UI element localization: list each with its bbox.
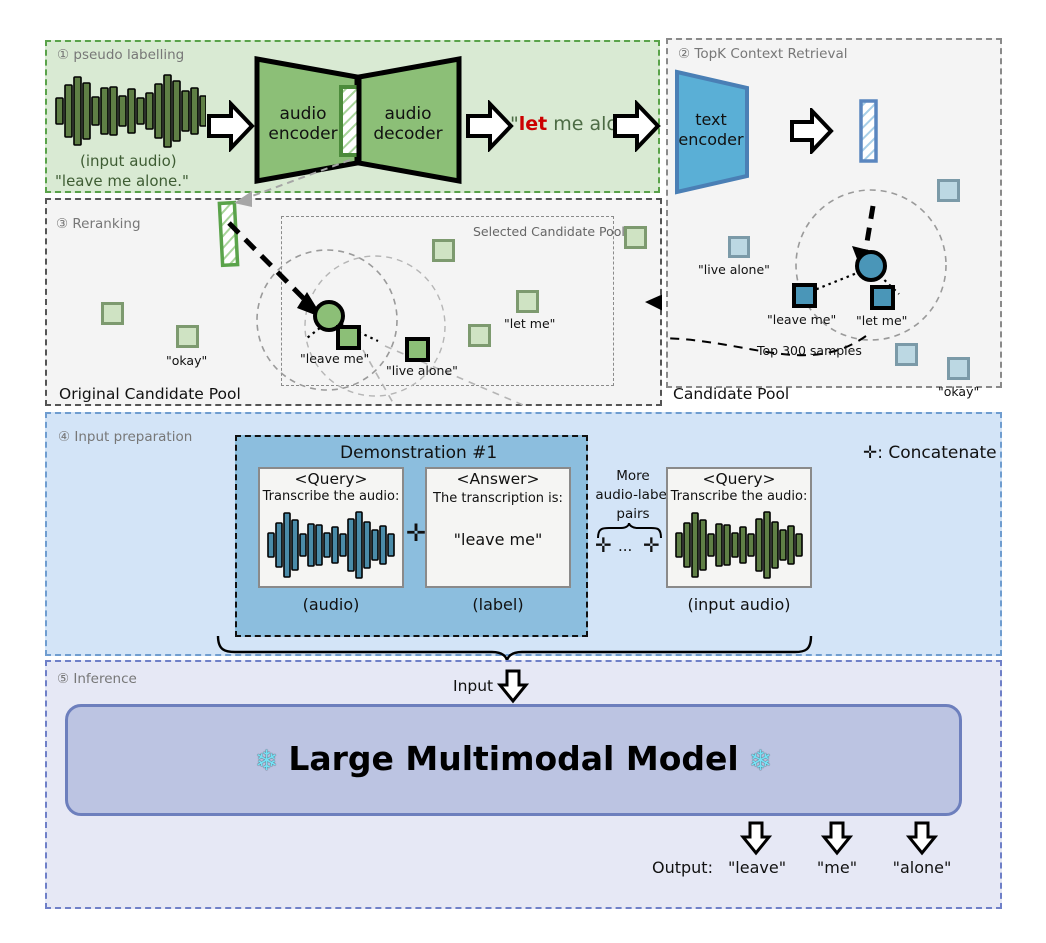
concat-plus-icon-2: ✛ bbox=[595, 533, 612, 557]
square-glyph bbox=[336, 325, 361, 350]
rerank-square-extra-3 bbox=[468, 324, 491, 347]
input-arrow-label: Input bbox=[453, 677, 493, 695]
candidate-label-leave-me: "leave me" bbox=[767, 312, 836, 327]
square-glyph bbox=[792, 283, 817, 308]
figure-canvas: ① pseudo labelling (input audio) "leave … bbox=[0, 0, 1046, 943]
rerank-square-let-me bbox=[516, 290, 539, 313]
demo-answer-value: "leave me" bbox=[425, 530, 571, 549]
candidate-square-okay bbox=[947, 357, 970, 380]
concat-plus-icon-1: ✛ bbox=[406, 519, 426, 547]
output-token-3: "alone" bbox=[884, 858, 960, 877]
output-token-2: "me" bbox=[805, 858, 869, 877]
demo-answer-instruction: The transcription is: bbox=[425, 491, 571, 506]
rerank-label-let-me: "let me" bbox=[504, 316, 555, 331]
candidate-square-extra-2 bbox=[895, 343, 918, 366]
candidate-square-extra-1 bbox=[937, 179, 960, 202]
right-arrow-icon-3 bbox=[613, 100, 661, 152]
demo-label-caption: (label) bbox=[425, 595, 571, 614]
model-name: Large Multimodal Model bbox=[278, 739, 748, 778]
square-glyph bbox=[101, 302, 124, 325]
demonstration-title: Demonstration #1 bbox=[340, 443, 497, 463]
test-query-instruction: Transcribe the audio: bbox=[666, 489, 812, 504]
down-arrow-icon-input bbox=[497, 668, 529, 704]
concat-plus-icon-3: ✛ bbox=[643, 533, 660, 557]
rerank-label-okay: "okay" bbox=[166, 353, 207, 368]
rerank-square-okay bbox=[176, 325, 199, 348]
down-arrow-icon-out-3 bbox=[906, 820, 938, 856]
section-5-label: ⑤ Inference bbox=[57, 671, 137, 687]
input-audio-transcript: "leave me alone." bbox=[55, 172, 189, 190]
rerank-label-leave-me: "leave me" bbox=[300, 351, 369, 366]
prediction-highlight: let bbox=[519, 113, 547, 135]
candidate-square-live-alone bbox=[728, 236, 750, 258]
more-pairs-line-1: More bbox=[588, 468, 678, 484]
candidate-square-leave-me bbox=[792, 283, 817, 308]
rerank-square-leave-me bbox=[336, 325, 361, 350]
candidate-label-okay: "okay" bbox=[938, 384, 979, 399]
candidate-label-let-me: "let me" bbox=[856, 313, 907, 328]
test-query-waveform bbox=[674, 509, 804, 581]
square-glyph bbox=[624, 226, 647, 249]
square-glyph bbox=[947, 357, 970, 380]
reranking-embedding-space bbox=[45, 198, 662, 406]
rerank-square-live-alone bbox=[405, 337, 430, 362]
section-1-label: ① pseudo labelling bbox=[57, 47, 184, 63]
snowflake-icon-left: ❄ bbox=[255, 744, 278, 777]
audio-decoder-label-1: audio bbox=[358, 104, 458, 124]
down-arrow-icon-out-2 bbox=[821, 820, 853, 856]
topk-embedding-space bbox=[666, 38, 1002, 388]
rerank-square-extra-1 bbox=[101, 302, 124, 325]
demo-query-waveform bbox=[266, 509, 396, 581]
square-glyph bbox=[870, 285, 895, 310]
rerank-label-live-alone: "live alone" bbox=[386, 363, 458, 378]
test-audio-caption: (input audio) bbox=[666, 595, 812, 614]
snowflake-icon-right: ❄ bbox=[749, 744, 772, 777]
square-glyph bbox=[516, 290, 539, 313]
input-audio-waveform bbox=[54, 72, 206, 150]
candidate-label-live-alone: "live alone" bbox=[698, 262, 770, 277]
output-label: Output: bbox=[652, 858, 713, 877]
demo-answer-tag: <Answer> bbox=[425, 470, 571, 488]
quote-open: " bbox=[510, 113, 519, 135]
section-4-label: ④ Input preparation bbox=[58, 429, 192, 445]
square-glyph bbox=[728, 236, 750, 258]
concatenate-plus-icon: ✛ bbox=[863, 443, 877, 463]
input-audio-caption: (input audio) bbox=[80, 152, 177, 170]
down-arrow-icon-out-1 bbox=[740, 820, 772, 856]
square-glyph bbox=[468, 324, 491, 347]
demo-query-tag: <Query> bbox=[258, 470, 404, 488]
model-title-row: ❄Large Multimodal Model❄ bbox=[65, 739, 962, 778]
concatenate-legend: ✛: Concatenate bbox=[863, 443, 997, 463]
output-token-1: "leave" bbox=[719, 858, 795, 877]
demo-query-instruction: Transcribe the audio: bbox=[258, 489, 404, 504]
audio-decoder-label-2: decoder bbox=[353, 124, 463, 144]
right-arrow-icon-2 bbox=[466, 100, 514, 152]
more-pairs-line-3: pairs bbox=[588, 506, 678, 522]
rerank-square-extra-4 bbox=[624, 226, 647, 249]
candidate-square-let-me bbox=[870, 285, 895, 310]
test-query-tag: <Query> bbox=[666, 470, 812, 488]
square-glyph bbox=[176, 325, 199, 348]
topk-note: Top 300 samples bbox=[757, 343, 862, 358]
candidate-pool-name: Candidate Pool bbox=[673, 385, 789, 403]
demo-audio-caption: (audio) bbox=[258, 595, 404, 614]
square-glyph bbox=[405, 337, 430, 362]
original-candidate-pool-name: Original Candidate Pool bbox=[59, 385, 241, 403]
square-glyph bbox=[432, 239, 455, 262]
square-glyph bbox=[895, 343, 918, 366]
square-glyph bbox=[937, 179, 960, 202]
concatenate-legend-text: : Concatenate bbox=[877, 443, 996, 463]
rerank-square-extra-2 bbox=[432, 239, 455, 262]
more-pairs-ellipsis: ... bbox=[618, 537, 632, 555]
